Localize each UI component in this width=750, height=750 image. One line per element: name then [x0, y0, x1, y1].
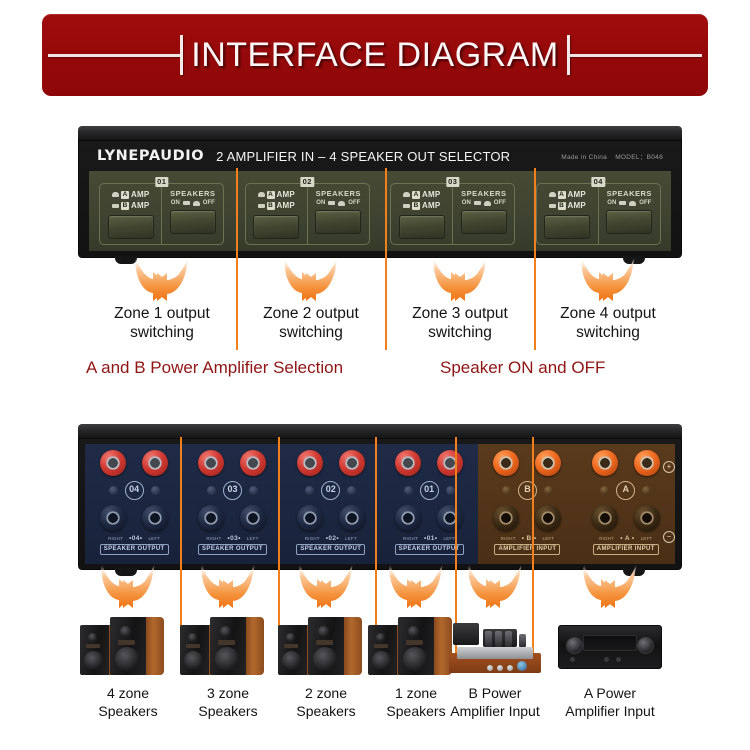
group-id-row: 02: [305, 481, 356, 500]
zone-box: 03 A AMP B AMP SPEAKERS ON: [390, 183, 515, 245]
binding-post-black-right[interactable]: [493, 505, 519, 531]
amp-front-plate: [457, 647, 533, 659]
on-label: ON: [607, 200, 616, 206]
amp-select-rocker-switch[interactable]: [108, 215, 154, 239]
channel-label-row: RIGHT • B • LEFT: [501, 535, 555, 542]
amp-b-row: B AMP: [549, 200, 586, 211]
screw-icon: [347, 486, 356, 495]
speaker-wood-cabinet: [146, 617, 164, 675]
amp-b-tag: B: [121, 202, 129, 210]
speaker-pair-image: [278, 615, 374, 675]
red-binding-posts: [297, 450, 365, 476]
speaker-onoff-rocker-switch[interactable]: [606, 210, 652, 234]
product-arrow-2: [199, 563, 257, 609]
binding-post-red-right[interactable]: [493, 450, 519, 476]
device-top-cover: [78, 126, 682, 140]
group-number-badge: 02: [321, 481, 340, 500]
zone-callout-2: Zone 2 output switching: [237, 304, 385, 342]
switch-up-indicator-icon: [549, 192, 556, 197]
on-label: ON: [171, 200, 180, 206]
speaker-pair-image: [180, 615, 276, 675]
speaker-onoff-section: SPEAKERS ON OFF: [308, 184, 369, 244]
group-section-label: AMPLIFIER INPUT: [494, 544, 560, 555]
off-label: OFF: [203, 200, 215, 206]
right-channel-label: RIGHT: [305, 536, 320, 541]
speaker-onoff-section: SPEAKERS ON OFF: [599, 184, 660, 244]
amplifier-input-group-B: B RIGHT • B • LEFT AMPLIFIER INPUT: [478, 444, 576, 564]
screw-icon: [151, 486, 160, 495]
zone-number-badge: 01: [155, 177, 168, 187]
tweeter-driver-icon: [120, 626, 131, 637]
product-arrow-4: [387, 563, 445, 609]
black-binding-posts: [493, 505, 561, 531]
black-binding-posts: [297, 505, 365, 531]
zone-arrow-3: [431, 256, 489, 302]
group-number-badge: A: [616, 481, 635, 500]
speaker-port: [284, 644, 298, 648]
left-channel-label: LEFT: [641, 536, 653, 541]
callout-line-2: switching: [237, 323, 385, 342]
onoff-row: ON OFF: [316, 200, 360, 206]
onoff-row: ON OFF: [462, 200, 506, 206]
speaker-port: [218, 640, 235, 645]
screw-icon: [305, 486, 314, 495]
right-channel-label: RIGHT: [206, 536, 221, 541]
amp-a-row: A AMP: [549, 189, 586, 200]
amp-a-tag: A: [412, 191, 420, 199]
group-id-row: 04: [109, 481, 160, 500]
amp-a-tag: A: [267, 191, 275, 199]
group-code: • A •: [620, 535, 634, 542]
off-label: OFF: [639, 200, 651, 206]
black-binding-posts: [395, 505, 463, 531]
group-code: •04•: [129, 535, 142, 542]
screw-icon: [446, 486, 455, 495]
rear-panel-device: 04 RIGHT •04• LEFT SPEAKER OUTPUT 03 RIG…: [78, 424, 682, 570]
speaker-port: [374, 644, 388, 648]
zone-control-02: 02 A AMP B AMP SPEAKERS ON: [235, 171, 381, 251]
binding-post-red-left[interactable]: [142, 450, 168, 476]
woofer-driver-icon: [115, 647, 139, 671]
screw-icon: [502, 486, 511, 495]
group-section-label: SPEAKER OUTPUT: [395, 544, 464, 555]
amp-select-rocker-switch[interactable]: [544, 215, 590, 239]
speaker-port: [406, 640, 423, 645]
red-binding-posts: [198, 450, 266, 476]
zone-number-badge: 03: [446, 177, 459, 187]
woofer-driver-icon: [215, 647, 239, 671]
binding-post-red-right[interactable]: [395, 450, 421, 476]
amp-a-label: AMP: [568, 190, 586, 199]
vacuum-tube-icon: [485, 631, 492, 647]
av-receiver-image: [558, 625, 662, 669]
vacuum-tube-icon: [505, 631, 512, 647]
speaker-onoff-rocker-switch[interactable]: [315, 210, 361, 234]
woofer-driver-icon: [313, 647, 337, 671]
switch-down-indicator-icon: [549, 204, 556, 208]
product-line-2: Amplifier Input: [540, 702, 680, 720]
speaker-port: [186, 644, 200, 648]
speaker-front: [398, 617, 452, 675]
speaker-output-group-03: 03 RIGHT •03• LEFT SPEAKER OUTPUT: [183, 444, 281, 564]
amp-a-tag: A: [558, 191, 566, 199]
speaker-port: [86, 644, 100, 648]
amp-b-tag: B: [267, 202, 275, 210]
group-id-row: A: [600, 481, 651, 500]
group-section-label: AMPLIFIER INPUT: [593, 544, 659, 555]
switch-off-indicator-icon: [484, 201, 491, 206]
off-label: OFF: [494, 200, 506, 206]
woofer-driver-icon: [372, 651, 391, 670]
right-channel-label: RIGHT: [599, 536, 614, 541]
amp-b-row: B AMP: [258, 200, 295, 211]
left-channel-label: LEFT: [247, 536, 259, 541]
speaker-onoff-rocker-switch[interactable]: [461, 210, 507, 234]
made-in-text: Made in China: [561, 154, 607, 161]
channel-label-row: RIGHT •01• LEFT: [403, 535, 455, 542]
amp-a-tag: A: [121, 191, 129, 199]
woofer-driver-icon: [282, 651, 301, 670]
rear-panel-body: 04 RIGHT •04• LEFT SPEAKER OUTPUT 03 RIG…: [78, 438, 682, 570]
model-number: MODEL：B048: [615, 154, 663, 161]
right-channel-label: RIGHT: [108, 536, 123, 541]
amp-select-section: A AMP B AMP: [537, 184, 599, 244]
off-label: OFF: [348, 200, 360, 206]
front-panel-body: LYNEPAUDIO 2 AMPLIFIER IN – 4 SPEAKER OU…: [78, 140, 682, 258]
switch-off-indicator-icon: [338, 201, 345, 206]
amp-a-label: AMP: [422, 190, 440, 199]
amp-b-label: AMP: [131, 201, 149, 210]
zone-control-panel: 01 A AMP B AMP SPEAKERS ON: [89, 171, 671, 251]
front-panel-device: LYNEPAUDIO 2 AMPLIFIER IN – 4 SPEAKER OU…: [78, 126, 682, 258]
binding-post-red-left[interactable]: [240, 450, 266, 476]
channel-label-row: RIGHT • A • LEFT: [599, 535, 652, 542]
speaker-port: [118, 640, 135, 645]
binding-post-red-left[interactable]: [339, 450, 365, 476]
vacuum-tube-icon: [519, 634, 526, 647]
tweeter-driver-icon: [318, 626, 329, 637]
brand-bar: LYNEPAUDIO 2 AMPLIFIER IN – 4 SPEAKER OU…: [87, 141, 673, 171]
speaker-onoff-rocker-switch[interactable]: [170, 210, 216, 234]
zone-box: 02 A AMP B AMP SPEAKERS ON: [245, 183, 370, 245]
zone-arrow-2: [282, 256, 340, 302]
speakers-label: SPEAKERS: [316, 189, 361, 198]
binding-post-black-right[interactable]: [592, 505, 618, 531]
amp-select-rocker-switch[interactable]: [399, 215, 445, 239]
switch-up-indicator-icon: [258, 192, 265, 197]
tweeter-driver-icon: [408, 626, 419, 637]
tweeter-driver-icon: [88, 633, 97, 642]
binding-post-black-right[interactable]: [100, 505, 126, 531]
binding-post-black-left[interactable]: [339, 505, 365, 531]
product-title: 2 AMPLIFIER IN – 4 SPEAKER OUT SELECTOR: [216, 149, 510, 164]
binding-post-red-right[interactable]: [100, 450, 126, 476]
zone-arrow-4: [579, 256, 637, 302]
receiver-knob-right[interactable]: [637, 637, 654, 654]
amp-knob[interactable]: [487, 665, 493, 671]
group-number-badge: 03: [223, 481, 242, 500]
tweeter-driver-icon: [376, 633, 385, 642]
switch-off-indicator-icon: [629, 201, 636, 206]
amplifier-input-group-A: A RIGHT • A • LEFT AMPLIFIER INPUT: [577, 444, 675, 564]
speakers-label: SPEAKERS: [607, 189, 652, 198]
group-code: •02•: [326, 535, 339, 542]
woofer-driver-icon: [403, 647, 427, 671]
binding-post-red-right[interactable]: [297, 450, 323, 476]
screw-icon: [249, 486, 258, 495]
tweeter-driver-icon: [286, 633, 295, 642]
channel-label-row: RIGHT •02• LEFT: [305, 535, 357, 542]
speaker-output-group-02: 02 RIGHT •02• LEFT SPEAKER OUTPUT: [282, 444, 380, 564]
group-code: •01•: [424, 535, 437, 542]
zone-number-badge: 02: [301, 177, 314, 187]
switch-on-indicator-icon: [619, 201, 626, 205]
left-channel-label: LEFT: [148, 536, 160, 541]
zone-box: 04 A AMP B AMP SPEAKERS ON: [536, 183, 661, 245]
zone-number-badge: 04: [592, 177, 605, 187]
speaker-output-group-01: 01 RIGHT •01• LEFT SPEAKER OUTPUT: [380, 444, 478, 564]
black-binding-posts: [592, 505, 660, 531]
switch-down-indicator-icon: [258, 204, 265, 208]
channel-label-row: RIGHT •04• LEFT: [108, 535, 160, 542]
switch-down-indicator-icon: [112, 204, 119, 208]
group-section-label: SPEAKER OUTPUT: [296, 544, 365, 555]
binding-post-black-left[interactable]: [634, 505, 660, 531]
woofer-driver-icon: [184, 651, 203, 670]
callout-line-1: Zone 3 output: [386, 304, 534, 323]
amp-b-row: B AMP: [112, 200, 149, 211]
switch-on-indicator-icon: [183, 201, 190, 205]
speaker-front: [210, 617, 264, 675]
amp-volume-knob[interactable]: [517, 661, 527, 671]
speaker-wood-cabinet: [246, 617, 264, 675]
page-title: INTERFACE DIAGRAM: [183, 36, 566, 75]
speaker-front: [110, 617, 164, 675]
group-number-badge: 01: [420, 481, 439, 500]
onoff-row: ON OFF: [171, 200, 215, 206]
binding-post-red-right[interactable]: [198, 450, 224, 476]
screw-icon: [600, 486, 609, 495]
header-banner: INTERFACE DIAGRAM: [42, 14, 708, 96]
note-amplifier-selection: A and B Power Amplifier Selection: [86, 358, 343, 378]
group-section-label: SPEAKER OUTPUT: [198, 544, 267, 555]
switch-off-indicator-icon: [193, 201, 200, 206]
switch-up-indicator-icon: [403, 192, 410, 197]
amp-a-row: A AMP: [112, 189, 149, 200]
switch-down-indicator-icon: [403, 204, 410, 208]
binding-post-black-left[interactable]: [437, 505, 463, 531]
tweeter-driver-icon: [220, 626, 231, 637]
callout-line-1: Zone 4 output: [534, 304, 682, 323]
transformer-block: [453, 623, 479, 645]
red-binding-posts: [395, 450, 463, 476]
vacuum-tube-icon: [495, 631, 502, 647]
polarity-plus-icon: +: [663, 461, 675, 473]
right-channel-label: RIGHT: [501, 536, 516, 541]
product-arrow-1: [99, 563, 157, 609]
binding-post-red-right[interactable]: [592, 450, 618, 476]
product-line-1: A Power: [540, 684, 680, 702]
group-number-badge: 04: [125, 481, 144, 500]
origin-and-model: Made in China MODEL：B048: [555, 151, 663, 161]
callout-line-2: switching: [386, 323, 534, 342]
banner-rule-left: [48, 54, 180, 57]
amp-select-section: A AMP B AMP: [246, 184, 308, 244]
amp-select-section: A AMP B AMP: [391, 184, 453, 244]
amp-b-label: AMP: [277, 201, 295, 210]
tweeter-driver-icon: [188, 633, 197, 642]
binding-post-red-left[interactable]: [535, 450, 561, 476]
callout-line-1: Zone 1 output: [88, 304, 236, 323]
product-arrow-5: [466, 563, 524, 609]
banner-rule-right: [570, 54, 702, 57]
amp-b-tag: B: [558, 202, 566, 210]
speaker-onoff-section: SPEAKERS ON OFF: [162, 184, 223, 244]
speakers-label: SPEAKERS: [461, 189, 506, 198]
group-id-row: 01: [404, 481, 455, 500]
group-id-row: 03: [207, 481, 258, 500]
tube-amplifier-image: [449, 617, 541, 673]
zone-arrow-1: [133, 256, 191, 302]
polarity-minus-icon: −: [663, 531, 675, 543]
binding-post-black-left[interactable]: [535, 505, 561, 531]
zone-control-03: 03 A AMP B AMP SPEAKERS ON: [380, 171, 526, 251]
black-binding-posts: [198, 505, 266, 531]
zone-control-01: 01 A AMP B AMP SPEAKERS ON: [89, 171, 235, 251]
onoff-row: ON OFF: [607, 200, 651, 206]
group-code: •03•: [227, 535, 240, 542]
amp-knob[interactable]: [497, 665, 503, 671]
binding-post-black-right[interactable]: [297, 505, 323, 531]
screw-icon: [404, 486, 413, 495]
speaker-wood-cabinet: [344, 617, 362, 675]
binding-post-black-left[interactable]: [142, 505, 168, 531]
amp-a-row: A AMP: [258, 189, 295, 200]
terminal-row: 04 RIGHT •04• LEFT SPEAKER OUTPUT 03 RIG…: [85, 444, 675, 564]
binding-post-red-left[interactable]: [437, 450, 463, 476]
brand-logo: LYNEPAUDIO: [97, 148, 204, 164]
right-channel-label: RIGHT: [403, 536, 418, 541]
receiver-display: [583, 635, 637, 651]
speaker-port: [316, 640, 333, 645]
callout-line-1: Zone 2 output: [237, 304, 385, 323]
amp-a-row: A AMP: [403, 189, 440, 200]
callout-line-2: switching: [534, 323, 682, 342]
rear-top-cover: [78, 424, 682, 438]
product-callout-6: A Power Amplifier Input: [540, 684, 680, 720]
black-binding-posts: [100, 505, 168, 531]
diagram-canvas: INTERFACE DIAGRAM LYNEPAUDIO 2 AMPLIFIER…: [0, 0, 750, 750]
binding-post-black-right[interactable]: [198, 505, 224, 531]
switch-up-indicator-icon: [112, 192, 119, 197]
switch-on-indicator-icon: [474, 201, 481, 205]
group-number-badge: B: [518, 481, 537, 500]
amp-b-label: AMP: [568, 201, 586, 210]
red-binding-posts: [100, 450, 168, 476]
binding-post-red-left[interactable]: [634, 450, 660, 476]
note-speaker-onoff: Speaker ON and OFF: [440, 358, 605, 378]
product-arrow-6: [581, 563, 639, 609]
amp-a-label: AMP: [131, 190, 149, 199]
zone-box: 01 A AMP B AMP SPEAKERS ON: [99, 183, 224, 245]
left-channel-label: LEFT: [443, 536, 455, 541]
product-arrow-3: [297, 563, 355, 609]
channel-label-row: RIGHT •03• LEFT: [206, 535, 258, 542]
zone-callout-4: Zone 4 output switching: [534, 304, 682, 342]
speaker-front: [308, 617, 362, 675]
zone-callout-1: Zone 1 output switching: [88, 304, 236, 342]
speakers-label: SPEAKERS: [170, 189, 215, 198]
receiver-button[interactable]: [604, 657, 609, 662]
amp-a-label: AMP: [277, 190, 295, 199]
on-label: ON: [462, 200, 471, 206]
screw-icon: [207, 486, 216, 495]
screw-icon: [544, 486, 553, 495]
speaker-pair-image: [80, 615, 176, 675]
amp-b-label: AMP: [422, 201, 440, 210]
group-section-label: SPEAKER OUTPUT: [100, 544, 169, 555]
zone-callout-3: Zone 3 output switching: [386, 304, 534, 342]
red-binding-posts: [592, 450, 660, 476]
red-binding-posts: [493, 450, 561, 476]
amp-b-tag: B: [412, 202, 420, 210]
speaker-output-group-04: 04 RIGHT •04• LEFT SPEAKER OUTPUT: [85, 444, 183, 564]
speaker-onoff-section: SPEAKERS ON OFF: [453, 184, 514, 244]
zone-control-04: 04 A AMP B AMP SPEAKERS ON: [526, 171, 672, 251]
amp-knob[interactable]: [507, 665, 513, 671]
group-id-row: B: [502, 481, 553, 500]
woofer-driver-icon: [84, 651, 103, 670]
callout-line-2: switching: [88, 323, 236, 342]
screw-icon: [642, 486, 651, 495]
left-channel-label: LEFT: [543, 536, 555, 541]
left-channel-label: LEFT: [345, 536, 357, 541]
binding-post-black-right[interactable]: [395, 505, 421, 531]
amp-select-section: A AMP B AMP: [100, 184, 162, 244]
group-code: • B •: [522, 535, 537, 542]
binding-post-black-left[interactable]: [240, 505, 266, 531]
amp-select-rocker-switch[interactable]: [253, 215, 299, 239]
switch-on-indicator-icon: [328, 201, 335, 205]
amp-b-row: B AMP: [403, 200, 440, 211]
screw-icon: [109, 486, 118, 495]
on-label: ON: [316, 200, 325, 206]
